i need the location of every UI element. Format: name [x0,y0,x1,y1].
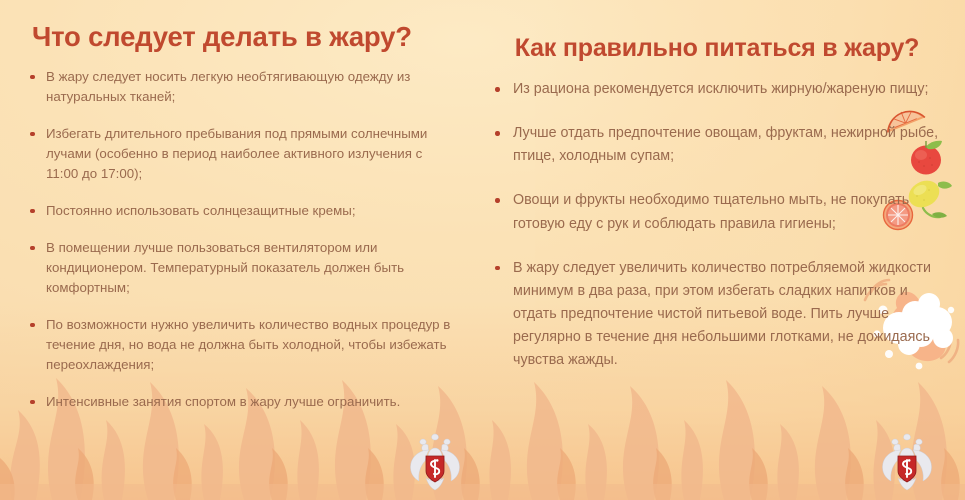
list-item: В жару следует увеличить количество потр… [491,257,943,373]
list-item: В помещении лучше пользоваться вентилято… [28,238,453,299]
list-item: В жару следует носить легкую необтягиваю… [28,67,453,107]
heat-safety-infographic: Что следует делать в жару? В жару следуе… [0,0,965,500]
list-item: Лучше отдать предпочтение овощам, фрукта… [491,122,943,168]
left-panel-bullet-list: В жару следует носить легкую необтягиваю… [28,67,453,412]
right-panel-bullet-list: Из рациона рекомендуется исключить жирну… [491,78,943,373]
right-column: Как правильно питаться в жару? Из рацион… [483,0,965,500]
content-columns: Что следует делать в жару? В жару следуе… [0,0,965,500]
right-panel-title: Как правильно питаться в жару? [491,34,943,62]
list-item: Интенсивные занятия спортом в жару лучше… [28,392,453,412]
list-item: Из рациона рекомендуется исключить жирну… [491,78,943,101]
list-item: Овощи и фрукты необходимо тщательно мыть… [491,189,943,235]
list-item: Избегать длительного пребывания под прям… [28,124,453,185]
left-panel-title: Что следует делать в жару? [32,22,453,53]
left-column: Что следует делать в жару? В жару следуе… [0,0,483,500]
list-item: По возможности нужно увеличить количеств… [28,315,453,376]
list-item: Постоянно использовать солнцезащитные кр… [28,201,453,221]
